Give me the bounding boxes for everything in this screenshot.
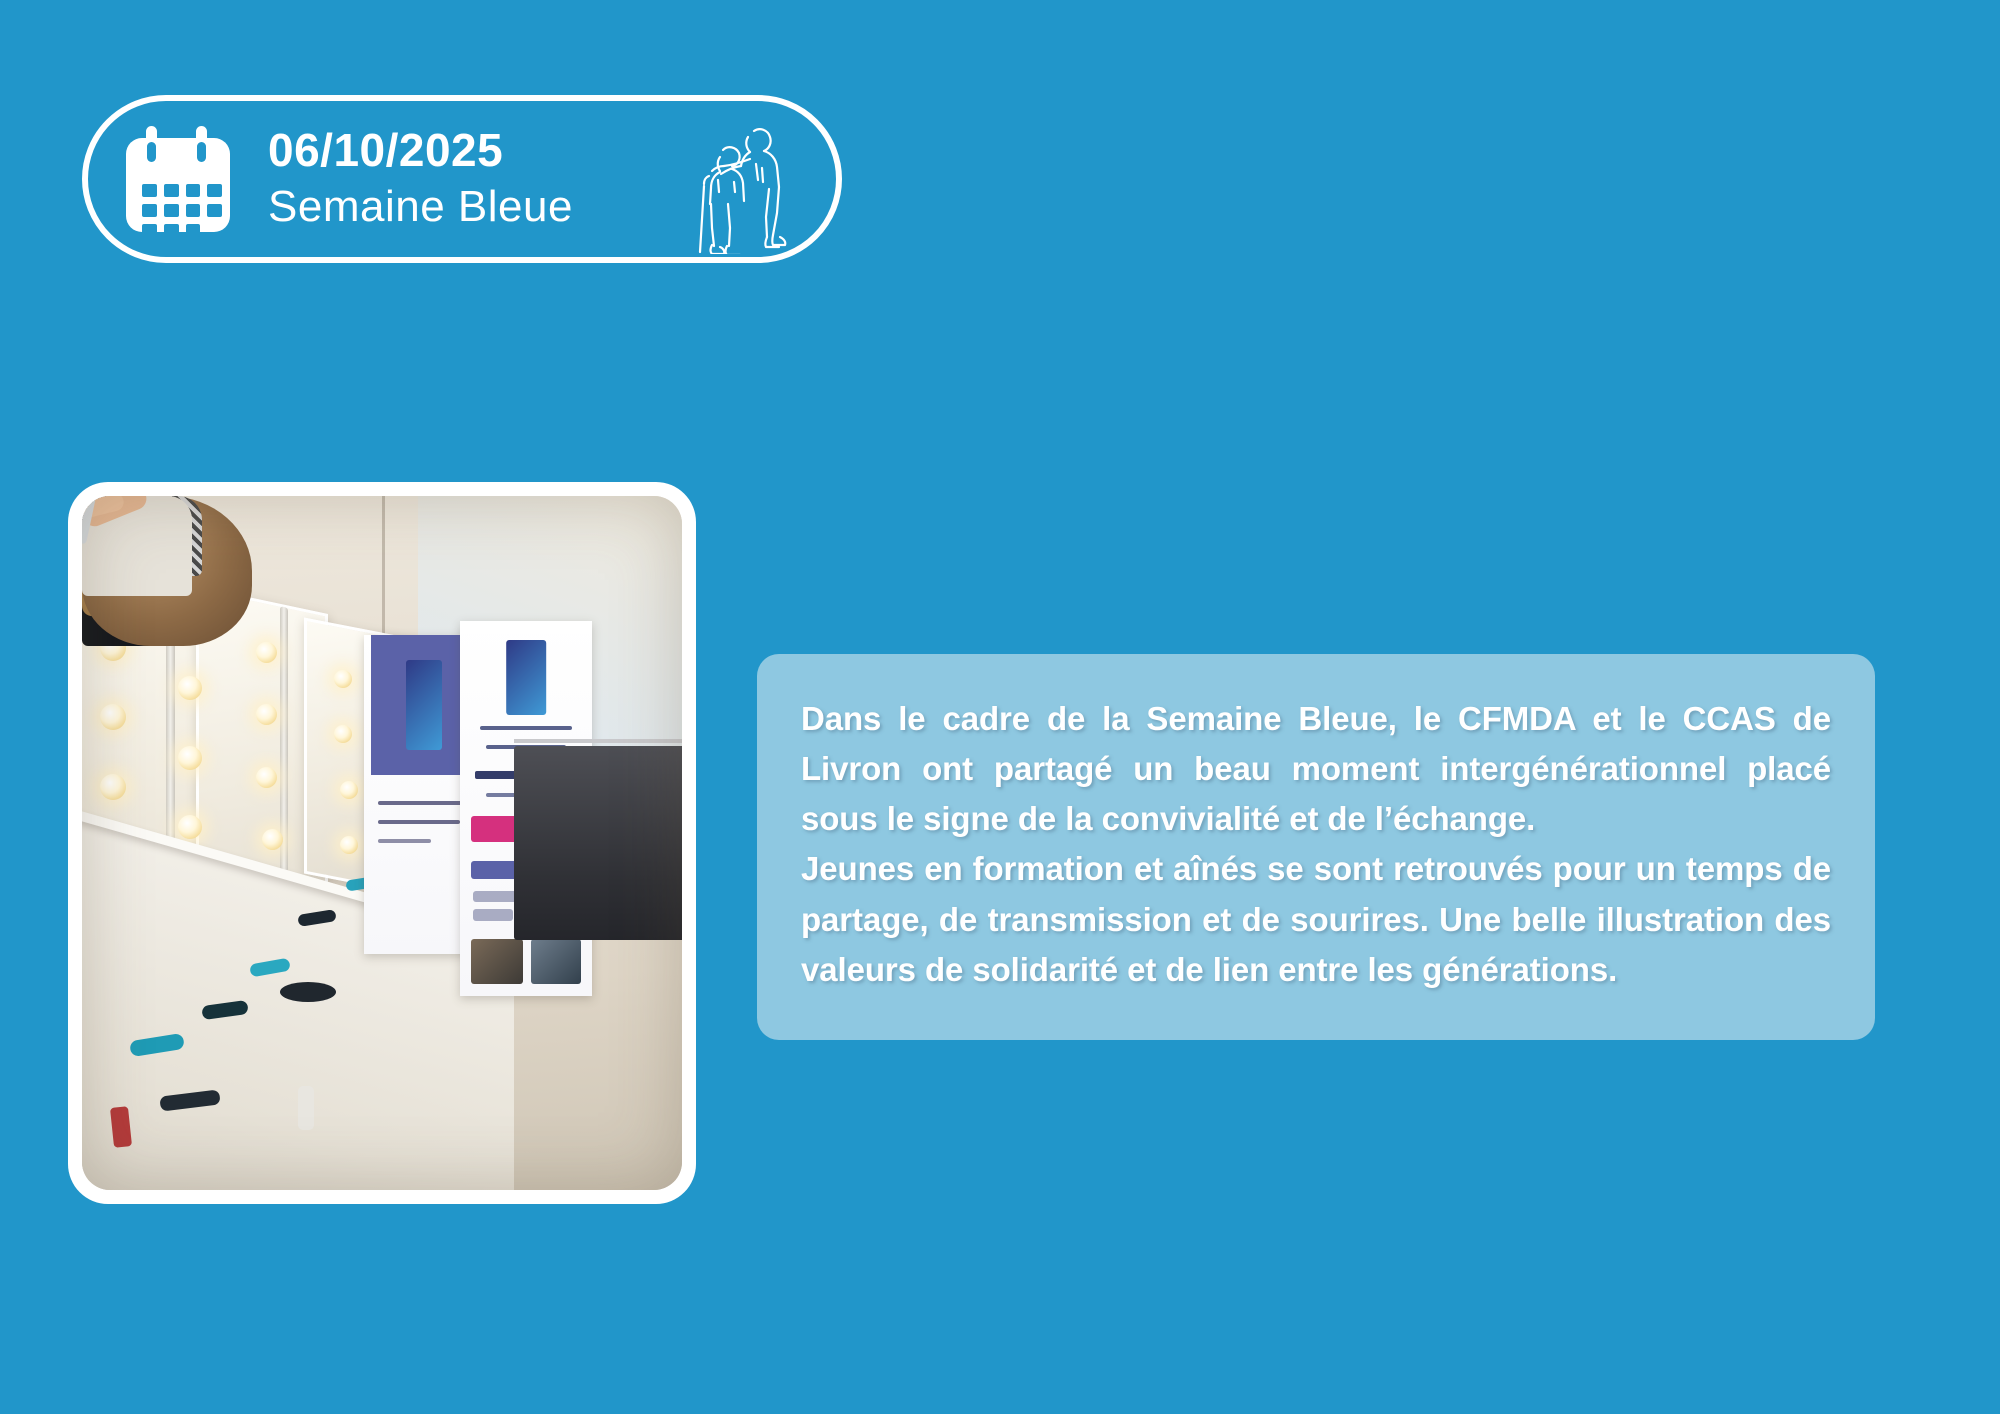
badge-date: 06/10/2025	[268, 124, 670, 177]
description-line: Livron ont partagé un beau moment interg…	[801, 750, 1726, 787]
badge-text-group: 06/10/2025 Semaine Bleue	[268, 124, 670, 234]
description-panel: Dans le cadre de la Semaine Bleue, le CF…	[757, 654, 1875, 1040]
description-text: Dans le cadre de la Semaine Bleue, le CF…	[801, 694, 1831, 995]
event-photo	[82, 496, 682, 1190]
elderly-support-pictogram-icon	[670, 104, 800, 254]
description-line: générations.	[1422, 951, 1617, 988]
photo-card	[68, 482, 696, 1204]
calendar-icon	[122, 126, 234, 232]
description-line: Dans le cadre de la Semaine Bleue, le CF…	[801, 700, 1831, 737]
badge-subtitle: Semaine Bleue	[268, 181, 670, 234]
date-badge: 06/10/2025 Semaine Bleue	[82, 95, 842, 263]
description-line: Jeunes en formation et aînés se sont ret…	[801, 850, 1676, 887]
